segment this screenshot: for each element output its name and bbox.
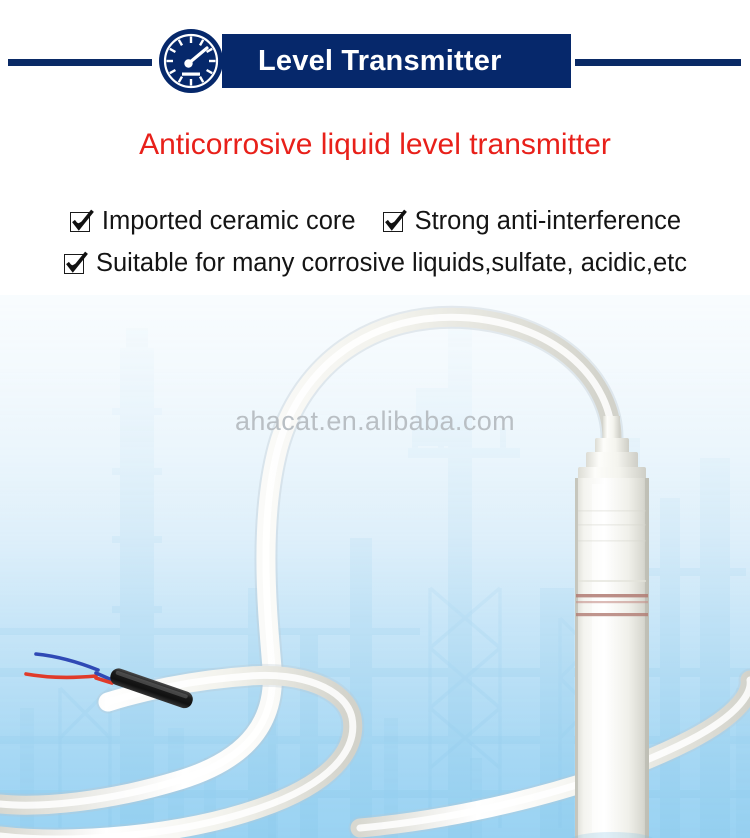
checkbox-checked-icon bbox=[382, 208, 408, 234]
feature-label: Suitable for many corrosive liquids,sulf… bbox=[96, 249, 687, 278]
checkbox-checked-icon bbox=[63, 250, 89, 276]
level-transmitter-product bbox=[0, 288, 750, 838]
product-photo: ahacat.en.alibaba.com bbox=[0, 288, 750, 838]
title-banner: Level Transmitter bbox=[0, 34, 750, 92]
feature-item-corrosive-liquids: Suitable for many corrosive liquids,sulf… bbox=[63, 249, 687, 278]
feature-row: Suitable for many corrosive liquids,sulf… bbox=[0, 242, 750, 284]
checkbox-checked-icon bbox=[69, 208, 95, 234]
feature-label: Imported ceramic core bbox=[102, 207, 356, 236]
banner-rule-left bbox=[8, 59, 152, 66]
feature-item-anti-interference: Strong anti-interference bbox=[382, 207, 681, 236]
page-subtitle: Anticorrosive liquid level transmitter bbox=[0, 128, 750, 162]
feature-row: Imported ceramic core Strong anti-interf… bbox=[0, 200, 750, 242]
banner-title: Level Transmitter bbox=[258, 34, 558, 88]
gauge-icon bbox=[156, 26, 226, 96]
product-image: Level Transmitter Anticorrosive liquid l… bbox=[0, 0, 750, 838]
header-zone: Level Transmitter Anticorrosive liquid l… bbox=[0, 0, 750, 295]
feature-list: Imported ceramic core Strong anti-interf… bbox=[0, 200, 750, 284]
feature-item-ceramic-core: Imported ceramic core bbox=[69, 207, 356, 236]
feature-label: Strong anti-interference bbox=[415, 207, 681, 236]
banner-rule-right bbox=[575, 59, 741, 66]
watermark-text: ahacat.en.alibaba.com bbox=[0, 406, 750, 437]
